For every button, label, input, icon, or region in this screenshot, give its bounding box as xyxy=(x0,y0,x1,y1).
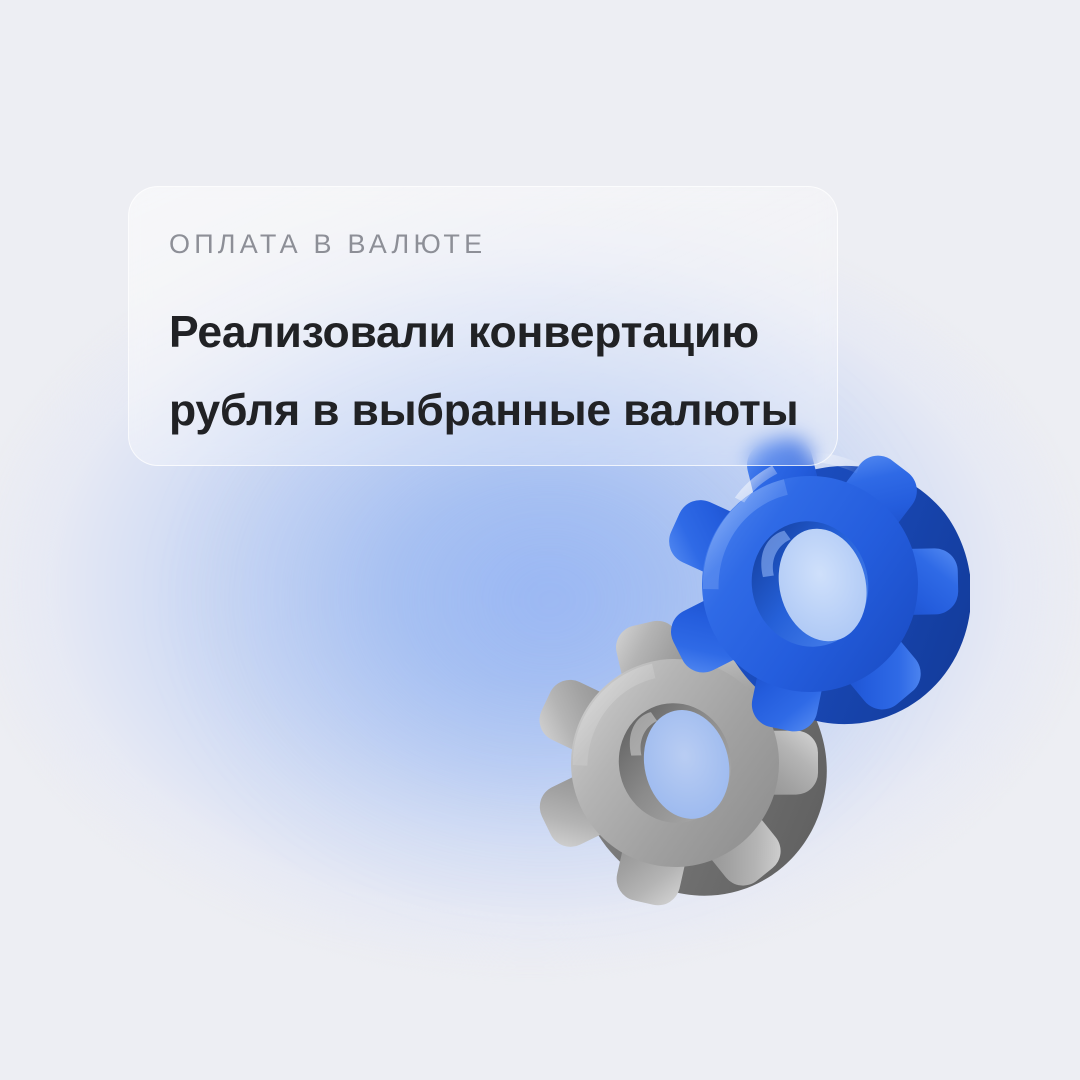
card-headline: Реализовали конвертацию рубля в выбранны… xyxy=(169,294,811,450)
background-corner-fade xyxy=(0,0,1080,1080)
card-kicker: ОПЛАТА В ВАЛЮТЕ xyxy=(169,231,811,258)
glass-info-card: ОПЛАТА В ВАЛЮТЕ Реализовали конвертацию … xyxy=(128,186,838,466)
card-content: ОПЛАТА В ВАЛЮТЕ Реализовали конвертацию … xyxy=(169,231,811,450)
promo-slide: ОПЛАТА В ВАЛЮТЕ Реализовали конвертацию … xyxy=(0,0,1080,1080)
